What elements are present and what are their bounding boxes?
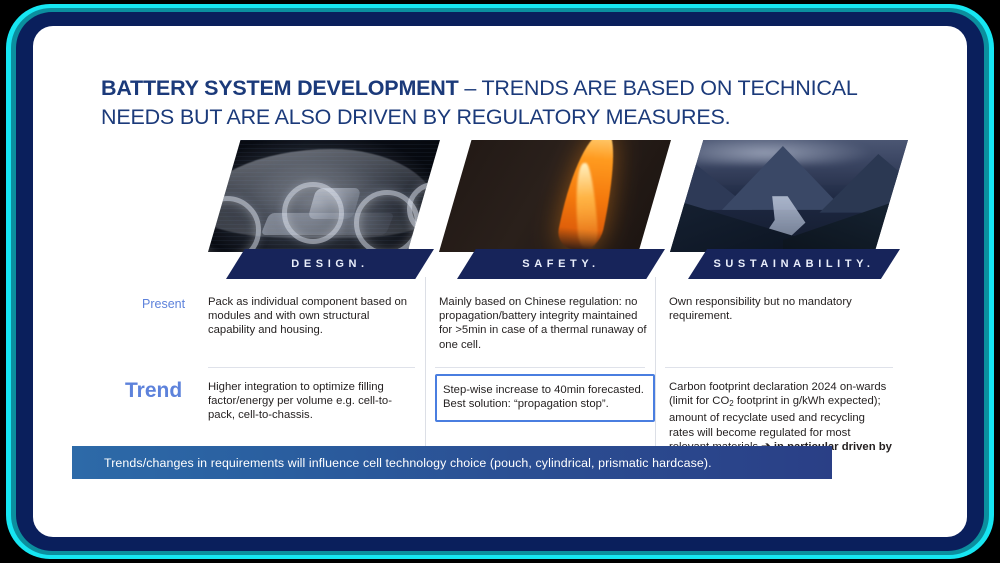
row-divider-1 [208, 367, 415, 368]
hero-panel-safety-image [439, 140, 671, 252]
column-divider-2 [655, 277, 656, 369]
row-label-trend: Trend [125, 379, 182, 403]
column-divider-1 [425, 277, 426, 369]
slide-stage: BATTERY SYSTEM DEVELOPMENT – TRENDS ARE … [0, 0, 1000, 563]
cell-trend-design: Higher integration to optimize filling f… [208, 380, 414, 423]
hero-panel-design[interactable]: DESIGN. [208, 140, 440, 252]
summary-banner: Trends/changes in requirements will infl… [72, 446, 832, 479]
hero-panel-sustainability-label-text: SUSTAINABILITY. [713, 258, 874, 270]
cell-trend-safety-highlight[interactable]: Step-wise increase to 40min forecasted. … [435, 374, 655, 422]
page-title-strong: BATTERY SYSTEM DEVELOPMENT [101, 76, 459, 100]
hero-panel-safety[interactable]: SAFETY. [439, 140, 671, 252]
hero-panel-design-label-text: DESIGN. [291, 258, 368, 270]
mountain-river-icon [670, 140, 908, 252]
row-divider-2 [435, 367, 645, 368]
hero-panel-safety-label: SAFETY. [457, 249, 665, 279]
hero-panel-design-label: DESIGN. [226, 249, 434, 279]
hero-panel-design-image [208, 140, 440, 252]
hero-panel-safety-label-text: SAFETY. [522, 258, 599, 270]
cell-present-sustainability: Own responsibility but no mandatory requ… [669, 295, 893, 323]
cell-present-design: Pack as individual component based on mo… [208, 295, 414, 338]
cell-present-safety: Mainly based on Chinese regulation: no p… [439, 295, 649, 352]
hero-panel-sustainability-label: SUSTAINABILITY. [688, 249, 900, 279]
page-title: BATTERY SYSTEM DEVELOPMENT – TRENDS ARE … [101, 74, 931, 132]
hero-panel-sustainability-image [670, 140, 908, 252]
row-label-present: Present [142, 297, 185, 311]
hero-panel-row: DESIGN. SAFETY. [33, 140, 967, 285]
cell-trend-safety-text: Step-wise increase to 40min forecasted. … [443, 384, 644, 410]
summary-banner-text: Trends/changes in requirements will infl… [104, 456, 712, 470]
row-divider-3 [665, 367, 893, 368]
flame-icon [439, 140, 671, 252]
slide-card: BATTERY SYSTEM DEVELOPMENT – TRENDS ARE … [33, 26, 967, 537]
xray-car-icon [208, 140, 440, 252]
hero-panel-sustainability[interactable]: SUSTAINABILITY. [670, 140, 908, 252]
